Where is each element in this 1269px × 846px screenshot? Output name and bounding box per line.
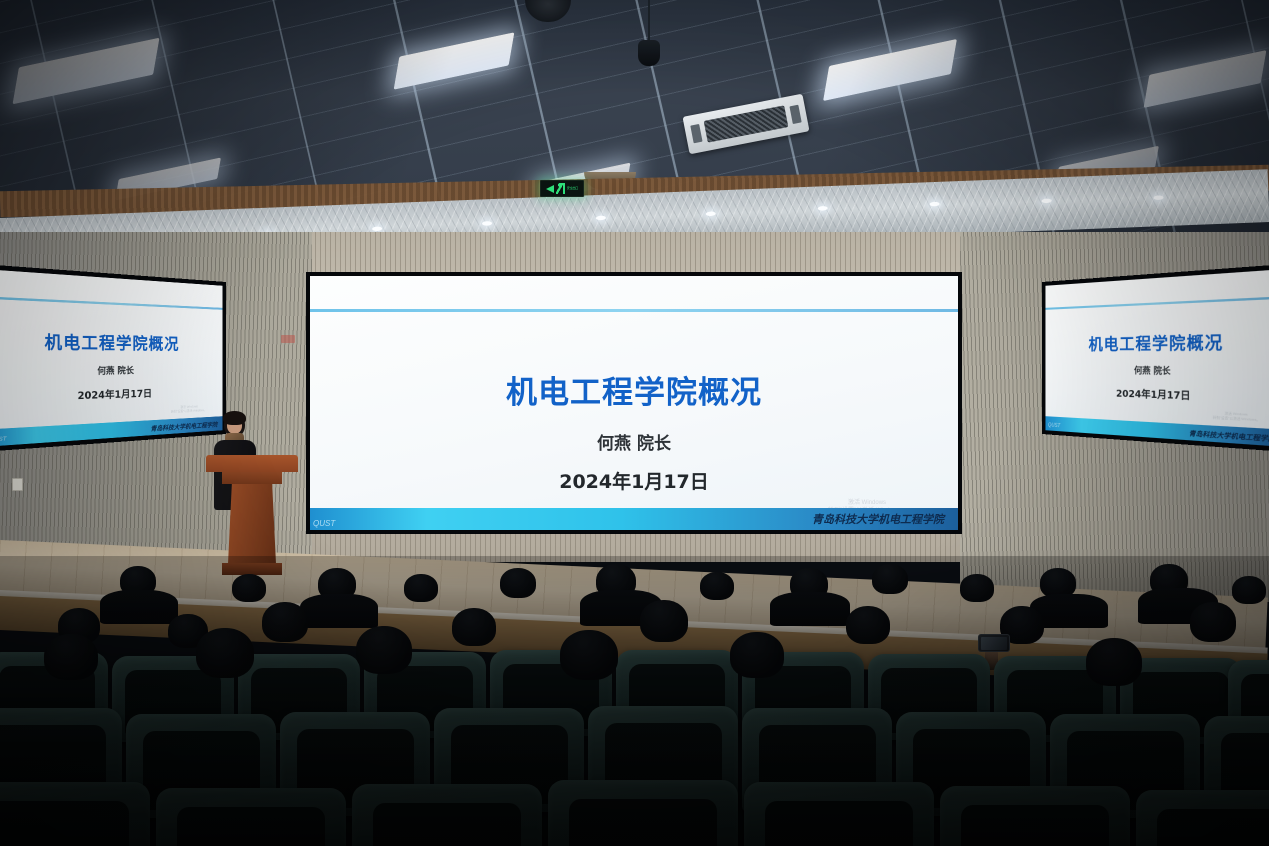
slide-presenter: 何燕 院长 xyxy=(0,364,223,379)
slide-footer-text: 青岛科技大学机电工程学院 xyxy=(812,511,944,527)
slide-title: 机电工程学院概况 xyxy=(310,367,958,412)
running-man-icon xyxy=(556,183,565,194)
audience-head xyxy=(640,600,688,642)
slide-title: 机电工程学院概况 xyxy=(1045,328,1269,355)
ac-vent-left xyxy=(690,124,702,144)
wall-marking xyxy=(281,335,295,343)
slide-date: 2024年1月17日 xyxy=(0,384,223,406)
audience-shoulders xyxy=(300,594,378,628)
auditorium-seat[interactable] xyxy=(352,784,542,846)
slide-logo-mark: QUST xyxy=(0,436,7,444)
auditorium-photo: 安全出口 机电工程学院概况 何燕 院长 2024年1月17日 激活 Window… xyxy=(0,0,1269,846)
audience-head xyxy=(1232,576,1266,604)
audience-head xyxy=(1190,602,1236,642)
audience-head xyxy=(872,564,908,594)
wall-light-switch[interactable] xyxy=(12,478,23,491)
slide-footer-text: 青岛科技大学机电工程学院 xyxy=(151,419,218,433)
auditorium-seat[interactable] xyxy=(0,782,150,846)
audience-head xyxy=(196,628,254,678)
exit-sign-label: 安全出口 xyxy=(567,187,578,190)
windows-activation-watermark: 激活 Windows 转到"设置"以激活 Windows。 xyxy=(1213,412,1260,423)
ac-grille xyxy=(703,106,788,143)
audience-head xyxy=(356,626,412,674)
slide-title: 机电工程学院概况 xyxy=(0,328,223,355)
slide-logo-mark: QUST xyxy=(1048,422,1060,429)
right-side-screen: 机电工程学院概况 何燕 院长 2024年1月17日 激活 Windows 转到"… xyxy=(1042,264,1269,452)
slide-date: 2024年1月17日 xyxy=(310,467,958,494)
audience-head xyxy=(846,606,890,644)
slide-logo-mark: QUST xyxy=(313,519,335,528)
slide-right: 机电工程学院概况 何燕 院长 2024年1月17日 激活 Windows 转到"… xyxy=(1045,269,1269,447)
audience-head xyxy=(1086,638,1142,686)
slide-top-accent-line xyxy=(1045,296,1269,310)
ceiling-pendant-speaker xyxy=(638,40,660,66)
slide-presenter: 何燕 院长 xyxy=(310,429,958,454)
emergency-exit-sign: 安全出口 xyxy=(540,180,584,197)
audience-head xyxy=(452,608,496,646)
main-center-screen: 机电工程学院概况 何燕 院长 2024年1月17日 激活 Windows 转到"… xyxy=(306,272,962,534)
windows-activation-watermark: 激活 Windows 转到"设置"以激活 Windows。 xyxy=(171,405,207,415)
auditorium-seat[interactable] xyxy=(156,788,346,846)
slide-footer-text: 青岛科技大学机电工程学院 xyxy=(1189,427,1269,443)
audience-head xyxy=(700,572,734,600)
auditorium-seat[interactable] xyxy=(548,780,738,846)
pendant-rod xyxy=(648,0,650,42)
smartphone-recording[interactable] xyxy=(978,634,1010,652)
podium-column xyxy=(228,484,276,564)
audience-head xyxy=(730,632,784,678)
audience-head xyxy=(232,574,266,602)
watermark-line-2: 转到"设置"以激活 Windows。 xyxy=(171,409,207,415)
watermark-line-2: 转到"设置"以激活 Windows。 xyxy=(1213,416,1260,423)
audience-head xyxy=(560,630,618,680)
audience-head xyxy=(500,568,536,598)
slide-presenter: 何燕 院长 xyxy=(1045,364,1269,379)
left-side-screen: 机电工程学院概况 何燕 院长 2024年1月17日 激活 Windows 转到"… xyxy=(0,264,226,452)
slide-footer-band: 青岛科技大学机电工程学院 QUST xyxy=(310,508,958,530)
audience-head xyxy=(404,574,438,602)
phone-screen xyxy=(981,637,1007,650)
slide-date: 2024年1月17日 xyxy=(1045,384,1269,406)
auditorium-seat[interactable] xyxy=(1136,790,1269,846)
audience-seating-area xyxy=(0,556,1269,846)
auditorium-seat[interactable] xyxy=(744,782,934,846)
ac-vent-right xyxy=(789,105,801,125)
audience-head xyxy=(262,602,308,642)
slide-top-accent-line xyxy=(310,309,958,312)
audience-head xyxy=(960,574,994,602)
slide-top-accent-line xyxy=(0,296,223,310)
presenter-hair xyxy=(223,411,246,425)
podium-neck xyxy=(222,472,282,484)
slide-left: 机电工程学院概况 何燕 院长 2024年1月17日 激活 Windows 转到"… xyxy=(0,269,223,447)
slide-main: 机电工程学院概况 何燕 院长 2024年1月17日 激活 Windows 转到"… xyxy=(310,276,958,530)
exit-arrow-icon xyxy=(546,185,554,193)
audience-shoulders xyxy=(100,590,178,624)
watermark-line-1: 激活 Windows xyxy=(828,500,906,508)
audience-head xyxy=(44,634,98,680)
podium-top-surface xyxy=(206,455,298,472)
audience-shoulders xyxy=(770,592,850,626)
auditorium-seat[interactable] xyxy=(940,786,1130,846)
